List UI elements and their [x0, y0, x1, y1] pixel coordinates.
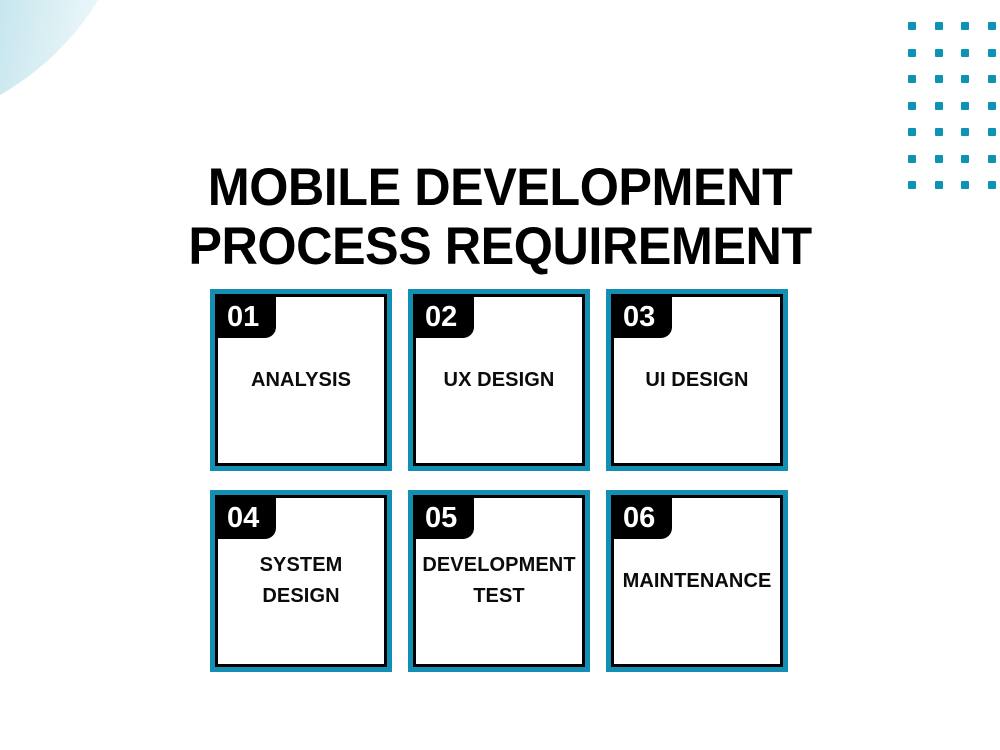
step-label: SYSTEM DESIGN — [260, 550, 343, 612]
process-step-card[interactable]: 03UI DESIGN — [606, 289, 788, 471]
dot-icon — [908, 22, 916, 30]
step-label: MAINTENANCE — [623, 566, 772, 597]
step-number-badge: 03 — [614, 297, 672, 338]
dot-icon — [935, 75, 943, 83]
step-label: UI DESIGN — [645, 365, 748, 396]
dot-icon — [908, 102, 916, 110]
dot-icon — [961, 49, 969, 57]
dot-icon — [988, 102, 996, 110]
dot-icon — [988, 181, 996, 189]
dot-icon — [961, 128, 969, 136]
step-number-badge: 05 — [416, 498, 474, 539]
dot-icon — [935, 102, 943, 110]
page-title-line-1: MOBILE DEVELOPMENT — [25, 158, 975, 217]
dot-icon — [935, 128, 943, 136]
dot-icon — [961, 75, 969, 83]
dot-icon — [935, 49, 943, 57]
step-number-badge: 01 — [218, 297, 276, 338]
step-number-badge: 04 — [218, 498, 276, 539]
dot-icon — [988, 155, 996, 163]
process-step-grid: 01ANALYSIS02UX DESIGN03UI DESIGN04SYSTEM… — [210, 289, 788, 672]
card-body: 02UX DESIGN — [413, 294, 585, 466]
step-label: DEVELOPMENT TEST — [422, 550, 575, 612]
card-body: 05DEVELOPMENT TEST — [413, 495, 585, 667]
dot-icon — [935, 22, 943, 30]
dot-icon — [908, 128, 916, 136]
step-label: ANALYSIS — [251, 365, 351, 396]
card-body: 06MAINTENANCE — [611, 495, 783, 667]
step-number-badge: 06 — [614, 498, 672, 539]
corner-gradient-decoration — [0, 0, 138, 132]
card-body: 03UI DESIGN — [611, 294, 783, 466]
dot-icon — [961, 22, 969, 30]
step-number-badge: 02 — [416, 297, 474, 338]
process-step-card[interactable]: 06MAINTENANCE — [606, 490, 788, 672]
dot-icon — [908, 49, 916, 57]
dot-icon — [988, 128, 996, 136]
process-step-card[interactable]: 05DEVELOPMENT TEST — [408, 490, 590, 672]
card-body: 04SYSTEM DESIGN — [215, 495, 387, 667]
page-title-line-2: PROCESS REQUIREMENT — [25, 217, 975, 276]
step-label: UX DESIGN — [444, 365, 555, 396]
dot-icon — [908, 75, 916, 83]
slide-canvas: MOBILE DEVELOPMENT PROCESS REQUIREMENT 0… — [0, 0, 1000, 750]
dot-icon — [988, 22, 996, 30]
card-body: 01ANALYSIS — [215, 294, 387, 466]
process-step-card[interactable]: 02UX DESIGN — [408, 289, 590, 471]
dot-icon — [988, 75, 996, 83]
page-title: MOBILE DEVELOPMENT PROCESS REQUIREMENT — [25, 158, 975, 276]
dot-icon — [961, 102, 969, 110]
process-step-card[interactable]: 01ANALYSIS — [210, 289, 392, 471]
process-step-card[interactable]: 04SYSTEM DESIGN — [210, 490, 392, 672]
dot-icon — [988, 49, 996, 57]
